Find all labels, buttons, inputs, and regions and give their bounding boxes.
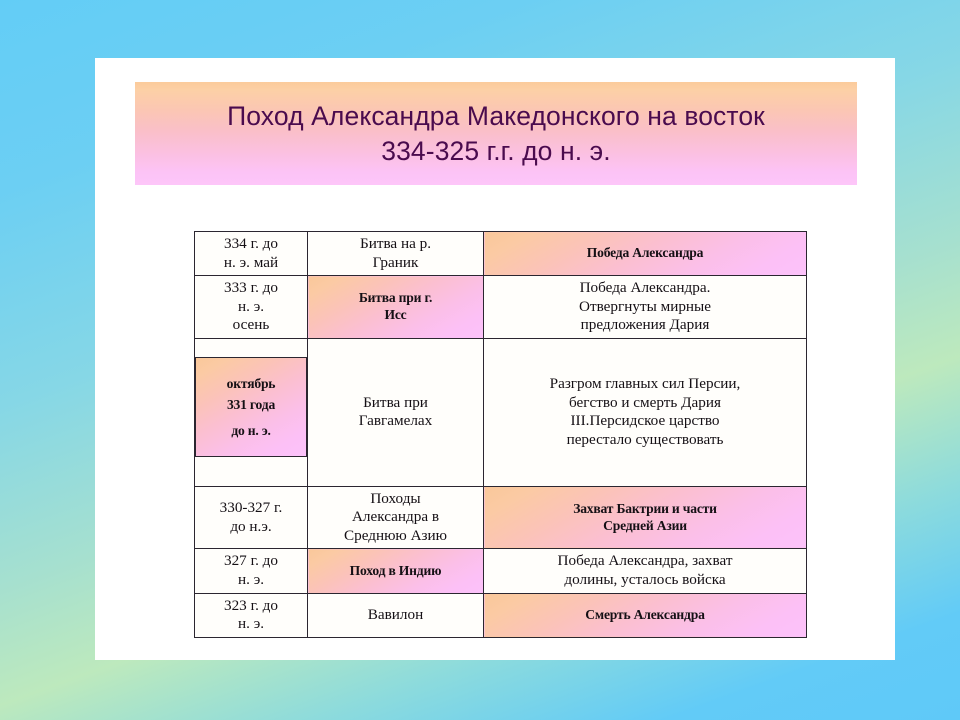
cell-event: Поход в Индию: [308, 549, 484, 593]
page-title: Поход Александра Македонского на восток …: [227, 99, 765, 169]
cell-date: 327 г. до н. э.: [195, 549, 308, 593]
date-line-2: 331 года: [227, 394, 275, 415]
cell-event: Вавилон: [308, 593, 484, 637]
cell-result: Победа Александра. Отвергнуты мирные пре…: [484, 276, 807, 339]
table-row: 330-327 г. до н.э. Походы Александра в С…: [195, 486, 807, 549]
cell-date: 330-327 г. до н.э.: [195, 486, 308, 549]
cell-result: Смерть Александра: [484, 593, 807, 637]
title-banner: Поход Александра Македонского на восток …: [135, 82, 857, 185]
cell-date: октябрь 331 года до н. э.: [195, 338, 308, 486]
cell-date: 333 г. до н. э. осень: [195, 276, 308, 339]
table-row: 327 г. до н. э. Поход в Индию Победа Але…: [195, 549, 807, 593]
table-row: 334 г. до н. э. май Битва на р. Граник П…: [195, 232, 807, 276]
table-row: 323 г. до н. э. Вавилон Смерть Александр…: [195, 593, 807, 637]
campaign-table: 334 г. до н. э. май Битва на р. Граник П…: [194, 231, 807, 638]
date-line-3: до н. э.: [231, 420, 270, 441]
date-line-1: октябрь: [227, 373, 276, 394]
cell-date: 323 г. до н. э.: [195, 593, 308, 637]
table-row: октябрь 331 года до н. э. Битва при Гавг…: [195, 338, 807, 486]
cell-result: Победа Александра, захват долины, устало…: [484, 549, 807, 593]
cell-event: Битва при г. Исс: [308, 276, 484, 339]
cell-event: Походы Александра в Среднюю Азию: [308, 486, 484, 549]
cell-result: Победа Александра: [484, 232, 807, 276]
cell-event: Битва на р. Граник: [308, 232, 484, 276]
date-highlight-box: октябрь 331 года до н. э.: [195, 357, 307, 457]
cell-result: Разгром главных сил Персии, бегство и см…: [484, 338, 807, 486]
cell-date: 334 г. до н. э. май: [195, 232, 308, 276]
table-row: 333 г. до н. э. осень Битва при г. Исс П…: [195, 276, 807, 339]
cell-result: Захват Бактрии и части Средней Азии: [484, 486, 807, 549]
cell-event: Битва при Гавгамелах: [308, 338, 484, 486]
